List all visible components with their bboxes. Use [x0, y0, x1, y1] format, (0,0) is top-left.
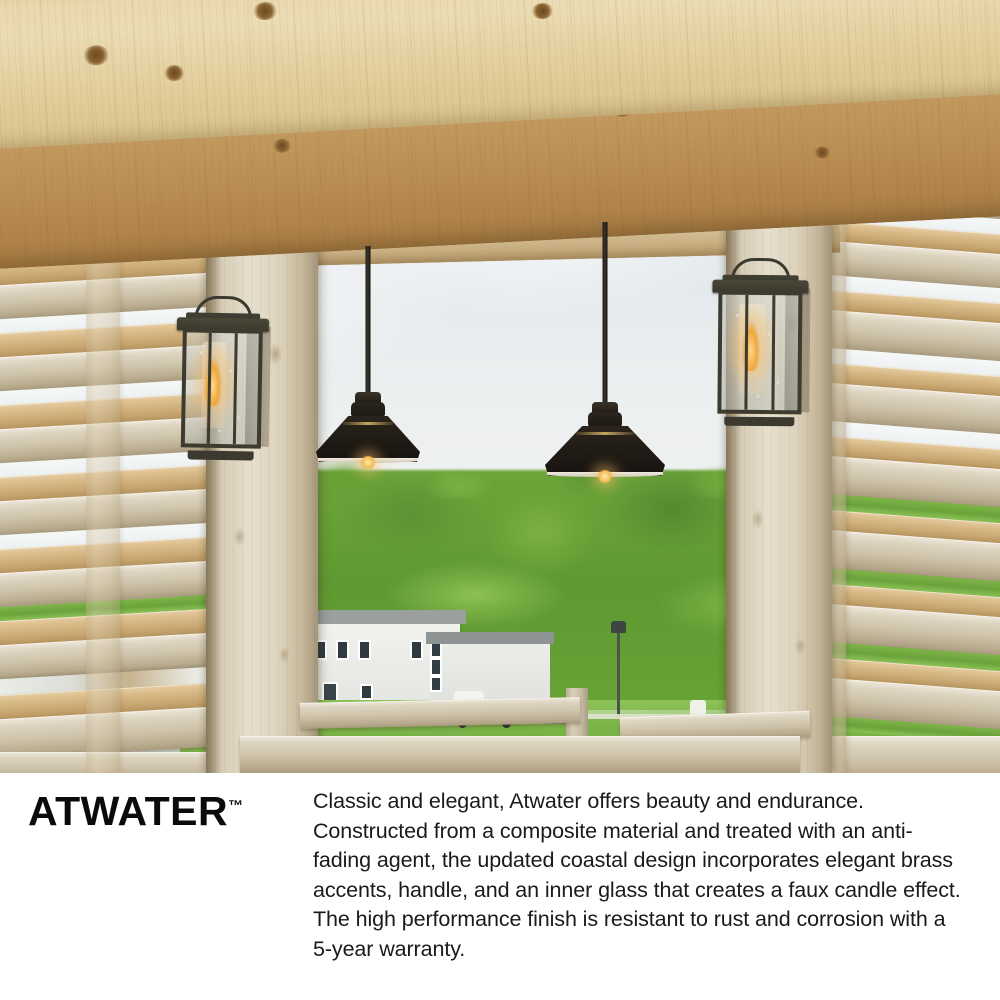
house-roof — [294, 610, 466, 624]
barn-pendant-light-left — [316, 246, 420, 472]
pendant-neck — [351, 402, 385, 417]
house-roof — [426, 632, 554, 644]
house-window — [410, 640, 423, 660]
lantern-body — [180, 328, 263, 448]
house-window — [360, 684, 373, 700]
caption-panel: ATWATER™ Classic and elegant, Atwater of… — [0, 773, 1000, 1000]
yard-lamp-post — [617, 630, 620, 716]
lantern-foot — [725, 417, 794, 427]
brand-wordmark: ATWATER™ — [28, 791, 243, 832]
pendant-brass-ring — [576, 432, 634, 435]
right-louvered-slat-wall — [824, 190, 1000, 773]
wood-knot — [814, 146, 831, 159]
pendant-bulb — [360, 456, 376, 469]
lantern-body — [717, 291, 803, 415]
wall-lantern-sconce-left — [175, 295, 270, 461]
product-lifestyle-photo — [0, 0, 1000, 773]
faux-candle-flame — [741, 320, 760, 371]
wood-knot — [83, 45, 110, 66]
pendant-rod — [366, 246, 371, 398]
product-description: Classic and elegant, Atwater offers beau… — [313, 787, 963, 964]
house-window — [358, 640, 371, 660]
brand-name: ATWATER — [28, 788, 228, 834]
wall-lantern-sconce-right — [711, 258, 808, 427]
house-window — [430, 658, 442, 676]
product-image-canvas: ATWATER™ Classic and elegant, Atwater of… — [0, 0, 1000, 1000]
wood-knot — [531, 2, 554, 19]
pendant-brass-ring — [343, 422, 393, 425]
wall-slat — [824, 736, 1000, 773]
trademark-symbol: ™ — [228, 797, 243, 814]
wood-knot — [164, 65, 185, 82]
pendant-bulb — [597, 470, 613, 483]
house-window — [336, 640, 349, 660]
lantern-foot — [187, 450, 253, 460]
deck-floor-board — [240, 736, 800, 773]
house-window — [430, 676, 442, 692]
barn-pendant-light-right — [545, 222, 665, 476]
pendant-neck — [588, 412, 622, 427]
wood-knot — [253, 1, 278, 20]
faux-candle-flame — [204, 357, 222, 406]
wall-stud — [86, 236, 120, 773]
pendant-rod — [603, 222, 608, 408]
wood-knot — [273, 138, 292, 153]
